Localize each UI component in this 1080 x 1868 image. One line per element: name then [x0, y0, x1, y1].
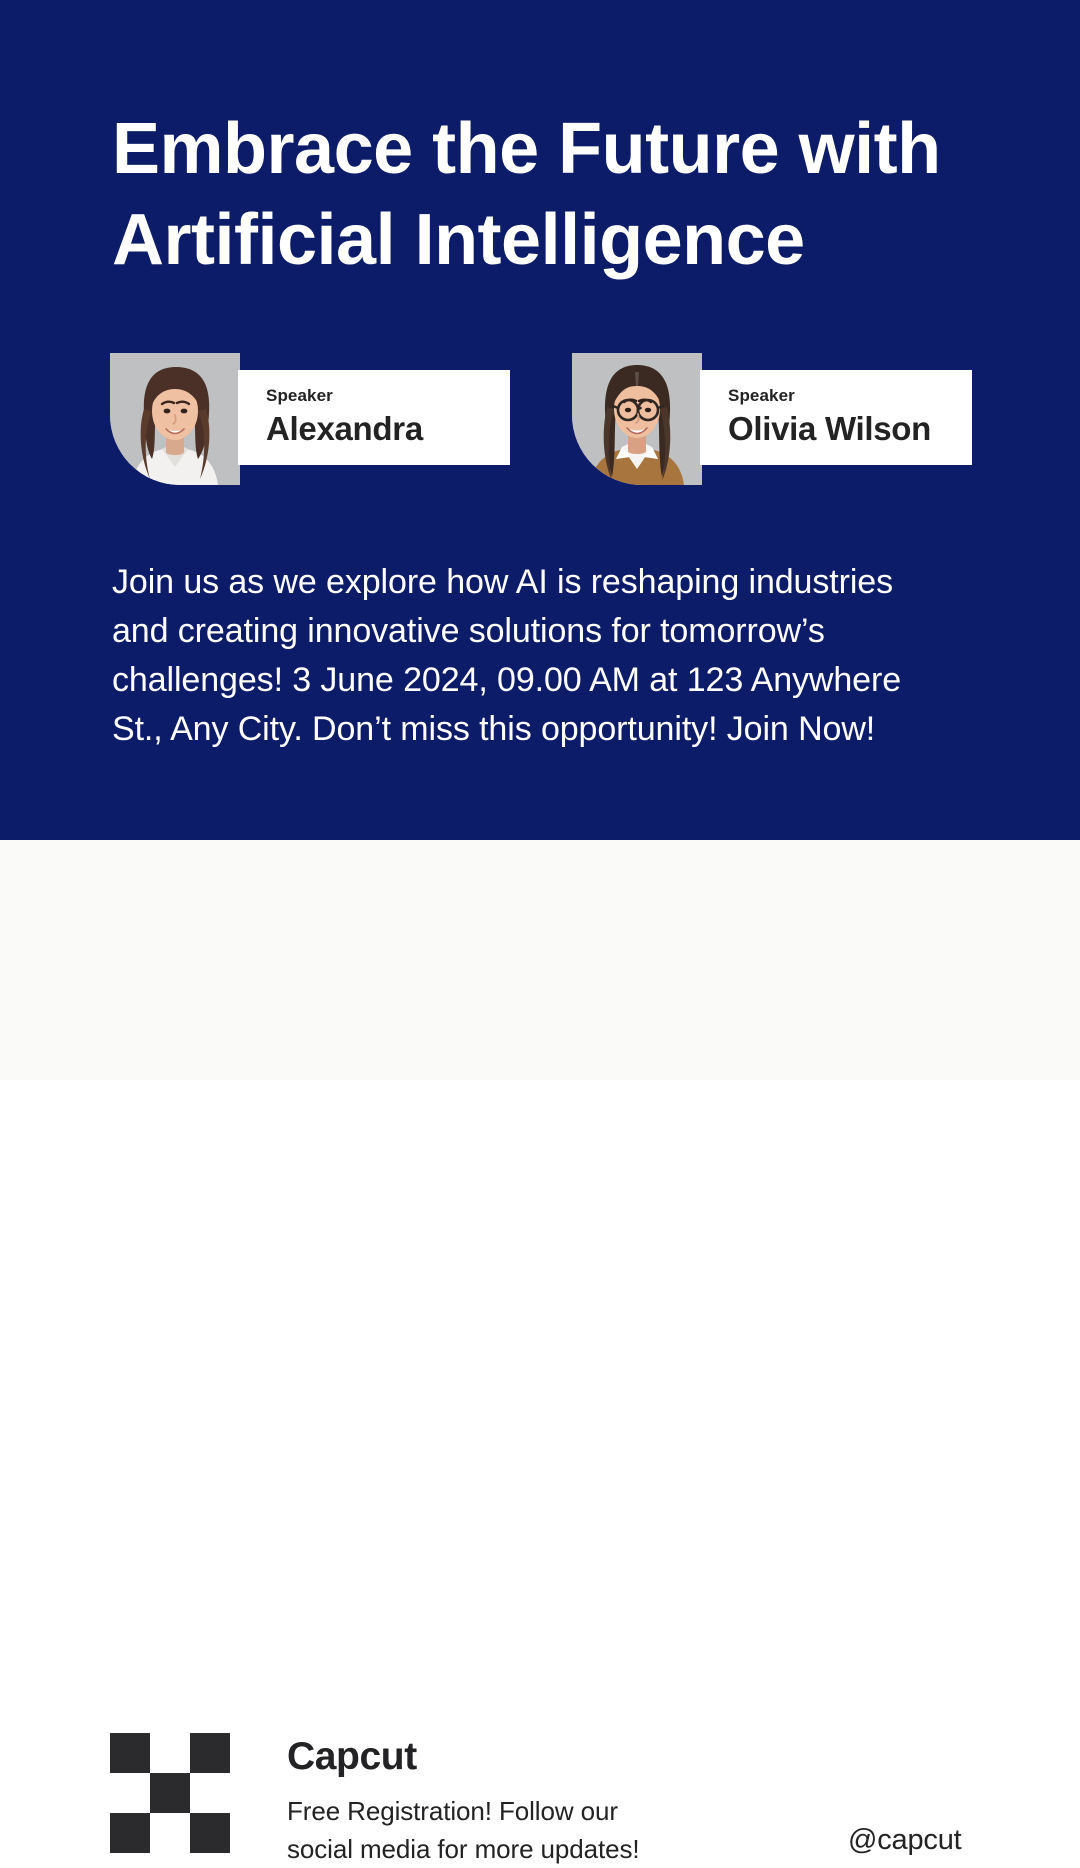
speaker-role-label: Speaker: [266, 387, 510, 406]
body-line-4: St., Any City. Don’t miss this opportuni…: [112, 705, 992, 754]
brand-name: Capcut: [287, 1736, 417, 1779]
hero-panel: Embrace the Future with Artificial Intel…: [0, 0, 1080, 840]
tagline-line-2: social media for more updates!: [287, 1830, 757, 1868]
poster-canvas: Embrace the Future with Artificial Intel…: [0, 0, 1080, 1080]
speaker-name-panel-olivia-wilson: Speaker Olivia Wilson: [700, 370, 972, 465]
speaker-name-panel-alexandra: Speaker Alexandra: [238, 370, 510, 465]
headline-line-1: Embrace the Future with: [112, 104, 1012, 195]
tagline-line-1: Free Registration! Follow our: [287, 1792, 757, 1830]
headline-line-2: Artificial Intelligence: [112, 195, 1012, 286]
logo-cell: [190, 1773, 230, 1813]
page-title: Embrace the Future with Artificial Intel…: [112, 104, 1012, 285]
avatar-alexandra: [110, 353, 240, 485]
event-description: Join us as we explore how AI is reshapin…: [112, 558, 992, 754]
checkerboard-x-logo-icon: [110, 1733, 230, 1853]
body-line-3: challenges! 3 June 2024, 09.00 AM at 123…: [112, 656, 992, 705]
body-line-2: and creating innovative solutions for to…: [112, 607, 992, 656]
avatar-olivia-wilson: [572, 353, 702, 485]
speaker-name: Olivia Wilson: [728, 411, 972, 447]
logo-cell: [150, 1733, 190, 1773]
logo-cell: [110, 1813, 150, 1853]
logo-cell: [110, 1733, 150, 1773]
speaker-card-alexandra[interactable]: Speaker Alexandra: [110, 353, 510, 488]
logo-cell: [150, 1813, 190, 1853]
footer-panel: Capcut Free Registration! Follow our soc…: [0, 840, 1080, 1080]
logo-cell: [190, 1733, 230, 1773]
logo-cell: [150, 1773, 190, 1813]
logo-cell: [110, 1773, 150, 1813]
speaker-name: Alexandra: [266, 411, 510, 447]
speaker-card-olivia-wilson[interactable]: Speaker Olivia Wilson: [572, 353, 972, 488]
speaker-list: Speaker Alexandra: [0, 353, 1080, 488]
social-handle[interactable]: @capcut: [848, 1825, 961, 1857]
footer-tagline: Free Registration! Follow our social med…: [287, 1792, 757, 1868]
logo-cell: [190, 1813, 230, 1853]
speaker-role-label: Speaker: [728, 387, 972, 406]
body-line-1: Join us as we explore how AI is reshapin…: [112, 558, 992, 607]
